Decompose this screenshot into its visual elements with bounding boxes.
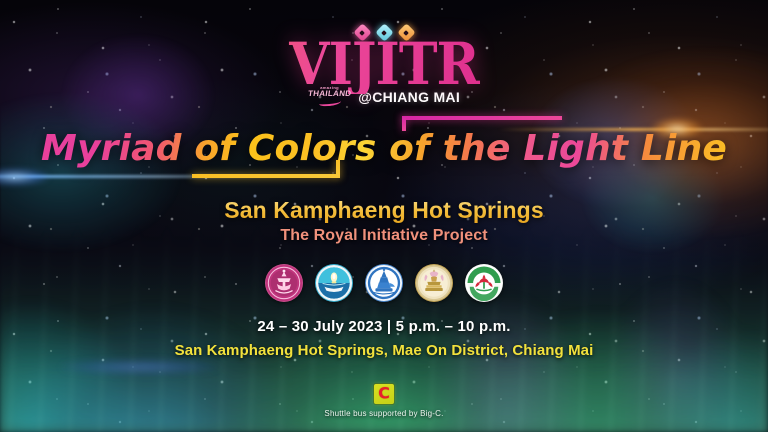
brand-block: VIJITR amazing THAILAND @CHIANG MAI	[0, 26, 768, 107]
venue-block: San Kamphaeng Hot Springs The Royal Init…	[0, 197, 768, 245]
svg-text:. . .: . . .	[382, 272, 386, 276]
sponsor-caption: Shuttle bus supported by Big-C.	[0, 409, 768, 418]
event-poster: VIJITR amazing THAILAND @CHIANG MAI Myri…	[0, 0, 768, 432]
venue-name: San Kamphaeng Hot Springs	[0, 197, 768, 224]
schedule-block: 24 – 30 July 2023 | 5 p.m. – 10 p.m. San…	[0, 318, 768, 359]
amazing-thailand-swoosh-icon	[318, 98, 340, 107]
headline-underline-decoration	[192, 174, 340, 178]
venue-subtitle: The Royal Initiative Project	[0, 227, 768, 245]
headline-text: Myriad of Colors of the Light Line	[41, 128, 727, 169]
seal-crown-pink-art	[265, 264, 303, 302]
amazing-thailand-main-text: THAILAND	[307, 90, 351, 98]
sponsor-block: C Shuttle bus supported by Big-C.	[0, 384, 768, 418]
seal-tree-white-green-art	[465, 264, 503, 302]
headline-overline-decoration	[402, 116, 562, 120]
seal-royal-gold	[415, 264, 453, 302]
vijitr-wordmark: VIJITR	[0, 37, 768, 94]
organization-seals-row: . . .	[0, 264, 768, 302]
headline-block: Myriad of Colors of the Light Line	[0, 128, 768, 169]
big-c-logo-letter: C	[378, 386, 390, 402]
seal-tower-blue: . . .	[365, 264, 403, 302]
seal-tree-white-green	[465, 264, 503, 302]
seal-crown-pink	[265, 264, 303, 302]
seal-royal-gold-art	[415, 264, 453, 302]
seal-tower-blue-art: . . .	[365, 264, 403, 302]
seal-lamp-cyan-art	[315, 264, 353, 302]
event-dates-and-time: 24 – 30 July 2023 | 5 p.m. – 10 p.m.	[0, 318, 768, 335]
big-c-logo: C	[374, 384, 394, 404]
seal-lamp-cyan	[315, 264, 353, 302]
event-address: San Kamphaeng Hot Springs, Mae On Distri…	[0, 342, 768, 359]
poster-content: VIJITR amazing THAILAND @CHIANG MAI Myri…	[0, 0, 768, 432]
amazing-thailand-logo: amazing THAILAND	[308, 86, 351, 106]
